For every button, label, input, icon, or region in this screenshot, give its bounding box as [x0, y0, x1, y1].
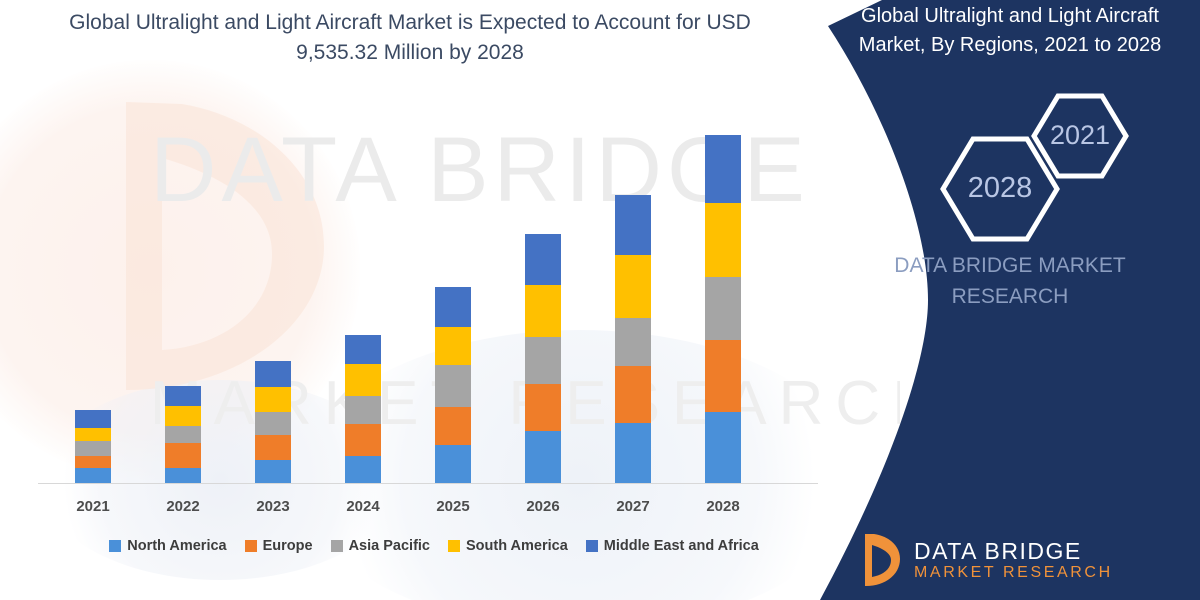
chart-panel: DATA BRIDGE MARKET RESEARCH Global Ultra…: [0, 0, 900, 600]
legend-item-asia-pacific[interactable]: Asia Pacific: [331, 538, 430, 554]
bar-segment[interactable]: [615, 255, 651, 318]
legend-swatch-icon: [586, 540, 598, 552]
x-tick-2027: 2027: [588, 498, 678, 515]
bar-segment[interactable]: [165, 386, 201, 406]
legend-swatch-icon: [109, 540, 121, 552]
bar-segment[interactable]: [525, 234, 561, 285]
bar-segment[interactable]: [435, 287, 471, 327]
legend-item-north-america[interactable]: North America: [109, 538, 226, 554]
bar-segment[interactable]: [165, 426, 201, 443]
bar-segment[interactable]: [615, 318, 651, 366]
bar-column-2026[interactable]: [525, 234, 561, 483]
legend-swatch-icon: [331, 540, 343, 552]
x-tick-2025: 2025: [408, 498, 498, 515]
hexagon-badge-2028: 2028: [938, 134, 1062, 244]
bar-segment[interactable]: [435, 407, 471, 445]
bar-segment[interactable]: [435, 365, 471, 407]
bar-segment[interactable]: [705, 340, 741, 412]
bar-segment[interactable]: [345, 335, 381, 364]
bar-segment[interactable]: [255, 435, 291, 460]
hexagon-badges: 2021 2028: [820, 92, 1200, 232]
chart-legend: North AmericaEuropeAsia PacificSouth Ame…: [44, 538, 824, 554]
bar-column-2027[interactable]: [615, 195, 651, 483]
x-tick-2023: 2023: [228, 498, 318, 515]
bar-segment[interactable]: [345, 364, 381, 396]
bar-segment[interactable]: [255, 387, 291, 412]
bar-segment[interactable]: [165, 406, 201, 426]
company-logo: DATA BRIDGE MARKET RESEARCH: [858, 522, 1188, 598]
bar-segment[interactable]: [705, 135, 741, 203]
bar-segment[interactable]: [255, 460, 291, 483]
legend-label: Middle East and Africa: [604, 538, 759, 554]
legend-swatch-icon: [448, 540, 460, 552]
company-logo-line-2: MARKET RESEARCH: [914, 564, 1113, 581]
x-tick-2024: 2024: [318, 498, 408, 515]
bridge-logo-icon: [858, 532, 902, 588]
brand-name: DATA BRIDGE MARKET RESEARCH: [840, 250, 1180, 312]
legend-label: Asia Pacific: [349, 538, 430, 554]
bar-segment[interactable]: [255, 361, 291, 387]
legend-label: South America: [466, 538, 568, 554]
bar-segment[interactable]: [345, 456, 381, 483]
bar-segment[interactable]: [255, 412, 291, 435]
bar-segment[interactable]: [165, 443, 201, 468]
bar-segment[interactable]: [615, 195, 651, 255]
legend-label: North America: [127, 538, 226, 554]
bar-segment[interactable]: [75, 410, 111, 428]
bar-segment[interactable]: [435, 445, 471, 483]
bar-segment[interactable]: [705, 203, 741, 277]
company-logo-text: DATA BRIDGE MARKET RESEARCH: [914, 539, 1113, 581]
bar-column-2028[interactable]: [705, 135, 741, 483]
x-axis-line: [38, 483, 818, 484]
bar-segment[interactable]: [75, 441, 111, 456]
company-logo-line-1: DATA BRIDGE: [914, 539, 1113, 564]
bar-segment[interactable]: [705, 412, 741, 483]
legend-swatch-icon: [245, 540, 257, 552]
hexagon-label-2028: 2028: [938, 172, 1062, 205]
bar-column-2025[interactable]: [435, 287, 471, 483]
branding-panel: Global Ultralight and Light Aircraft Mar…: [820, 0, 1200, 600]
x-tick-2022: 2022: [138, 498, 228, 515]
bar-segment[interactable]: [525, 337, 561, 384]
bar-column-2024[interactable]: [345, 335, 381, 483]
legend-item-middle-east-and-africa[interactable]: Middle East and Africa: [586, 538, 759, 554]
bar-segment[interactable]: [75, 468, 111, 483]
bar-segment[interactable]: [615, 423, 651, 483]
bar-column-2021[interactable]: [75, 410, 111, 483]
bar-column-2022[interactable]: [165, 386, 201, 483]
bar-segment[interactable]: [75, 428, 111, 441]
x-tick-2026: 2026: [498, 498, 588, 515]
bar-segment[interactable]: [615, 366, 651, 423]
legend-item-south-america[interactable]: South America: [448, 538, 568, 554]
bar-column-2023[interactable]: [255, 361, 291, 483]
bar-segment[interactable]: [525, 384, 561, 431]
x-tick-2021: 2021: [48, 498, 138, 515]
bar-segment[interactable]: [345, 396, 381, 424]
bar-segment[interactable]: [435, 327, 471, 365]
bar-segment[interactable]: [705, 277, 741, 340]
x-tick-2028: 2028: [678, 498, 768, 515]
bar-segment[interactable]: [525, 431, 561, 483]
bar-segment[interactable]: [165, 468, 201, 483]
legend-item-europe[interactable]: Europe: [245, 538, 313, 554]
bar-segment[interactable]: [75, 456, 111, 468]
infographic-root: DATA BRIDGE MARKET RESEARCH Global Ultra…: [0, 0, 1200, 600]
plot-area: 20212022202320242025202620272028: [0, 0, 900, 600]
legend-label: Europe: [263, 538, 313, 554]
chart-subject-title: Global Ultralight and Light Aircraft Mar…: [840, 2, 1180, 60]
bar-segment[interactable]: [345, 424, 381, 456]
bar-segment[interactable]: [525, 285, 561, 337]
